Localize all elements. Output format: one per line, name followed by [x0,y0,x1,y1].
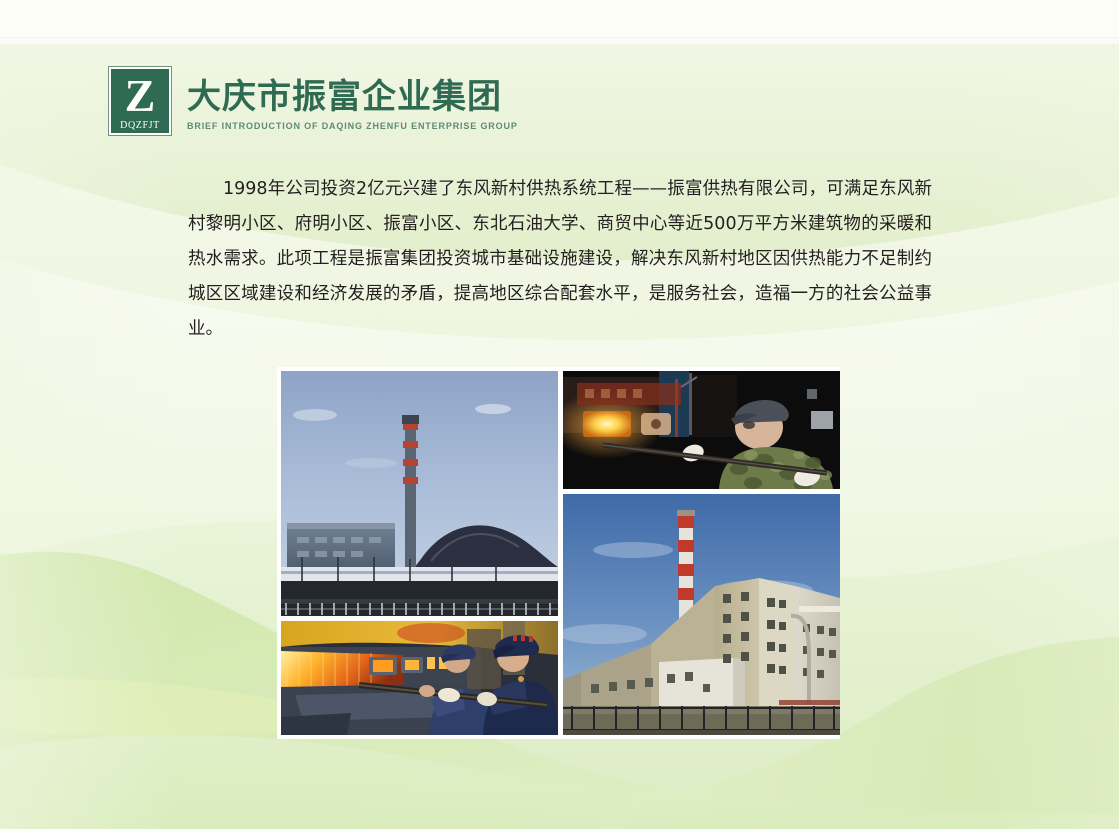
brand-text-block: 大庆市振富企业集团 BRIEF INTRODUCTION OF DAQING Z… [187,78,518,131]
brochure-page: Z DQZFJT 大庆市振富企业集团 BRIEF INTRODUCTION OF… [0,0,1119,829]
logo-abbreviation: DQZFJT [120,120,160,131]
page-top-band-secondary [0,38,1119,44]
introduction-paragraph: 1998年公司投资2亿元兴建了东风新村供热系统工程——振富供热有限公司，可满足东… [188,172,932,347]
furnace-worker-photo [563,371,840,489]
company-name-cn: 大庆市振富企业集团 [187,78,518,116]
logo-square: Z DQZFJT [111,69,169,133]
brand-header: Z DQZFJT 大庆市振富企业集团 BRIEF INTRODUCTION OF… [108,66,518,136]
heating-plant-wide-photo [281,371,558,616]
logo-z-letter: Z [125,73,156,119]
heating-plant-tall-photo [563,494,840,735]
boiler-crew-photo [281,621,558,735]
page-top-band [0,0,1119,38]
photo-collage [277,367,840,739]
company-logo-mark: Z DQZFJT [108,66,172,136]
company-name-en: BRIEF INTRODUCTION OF DAQING ZHENFU ENTE… [187,121,518,131]
